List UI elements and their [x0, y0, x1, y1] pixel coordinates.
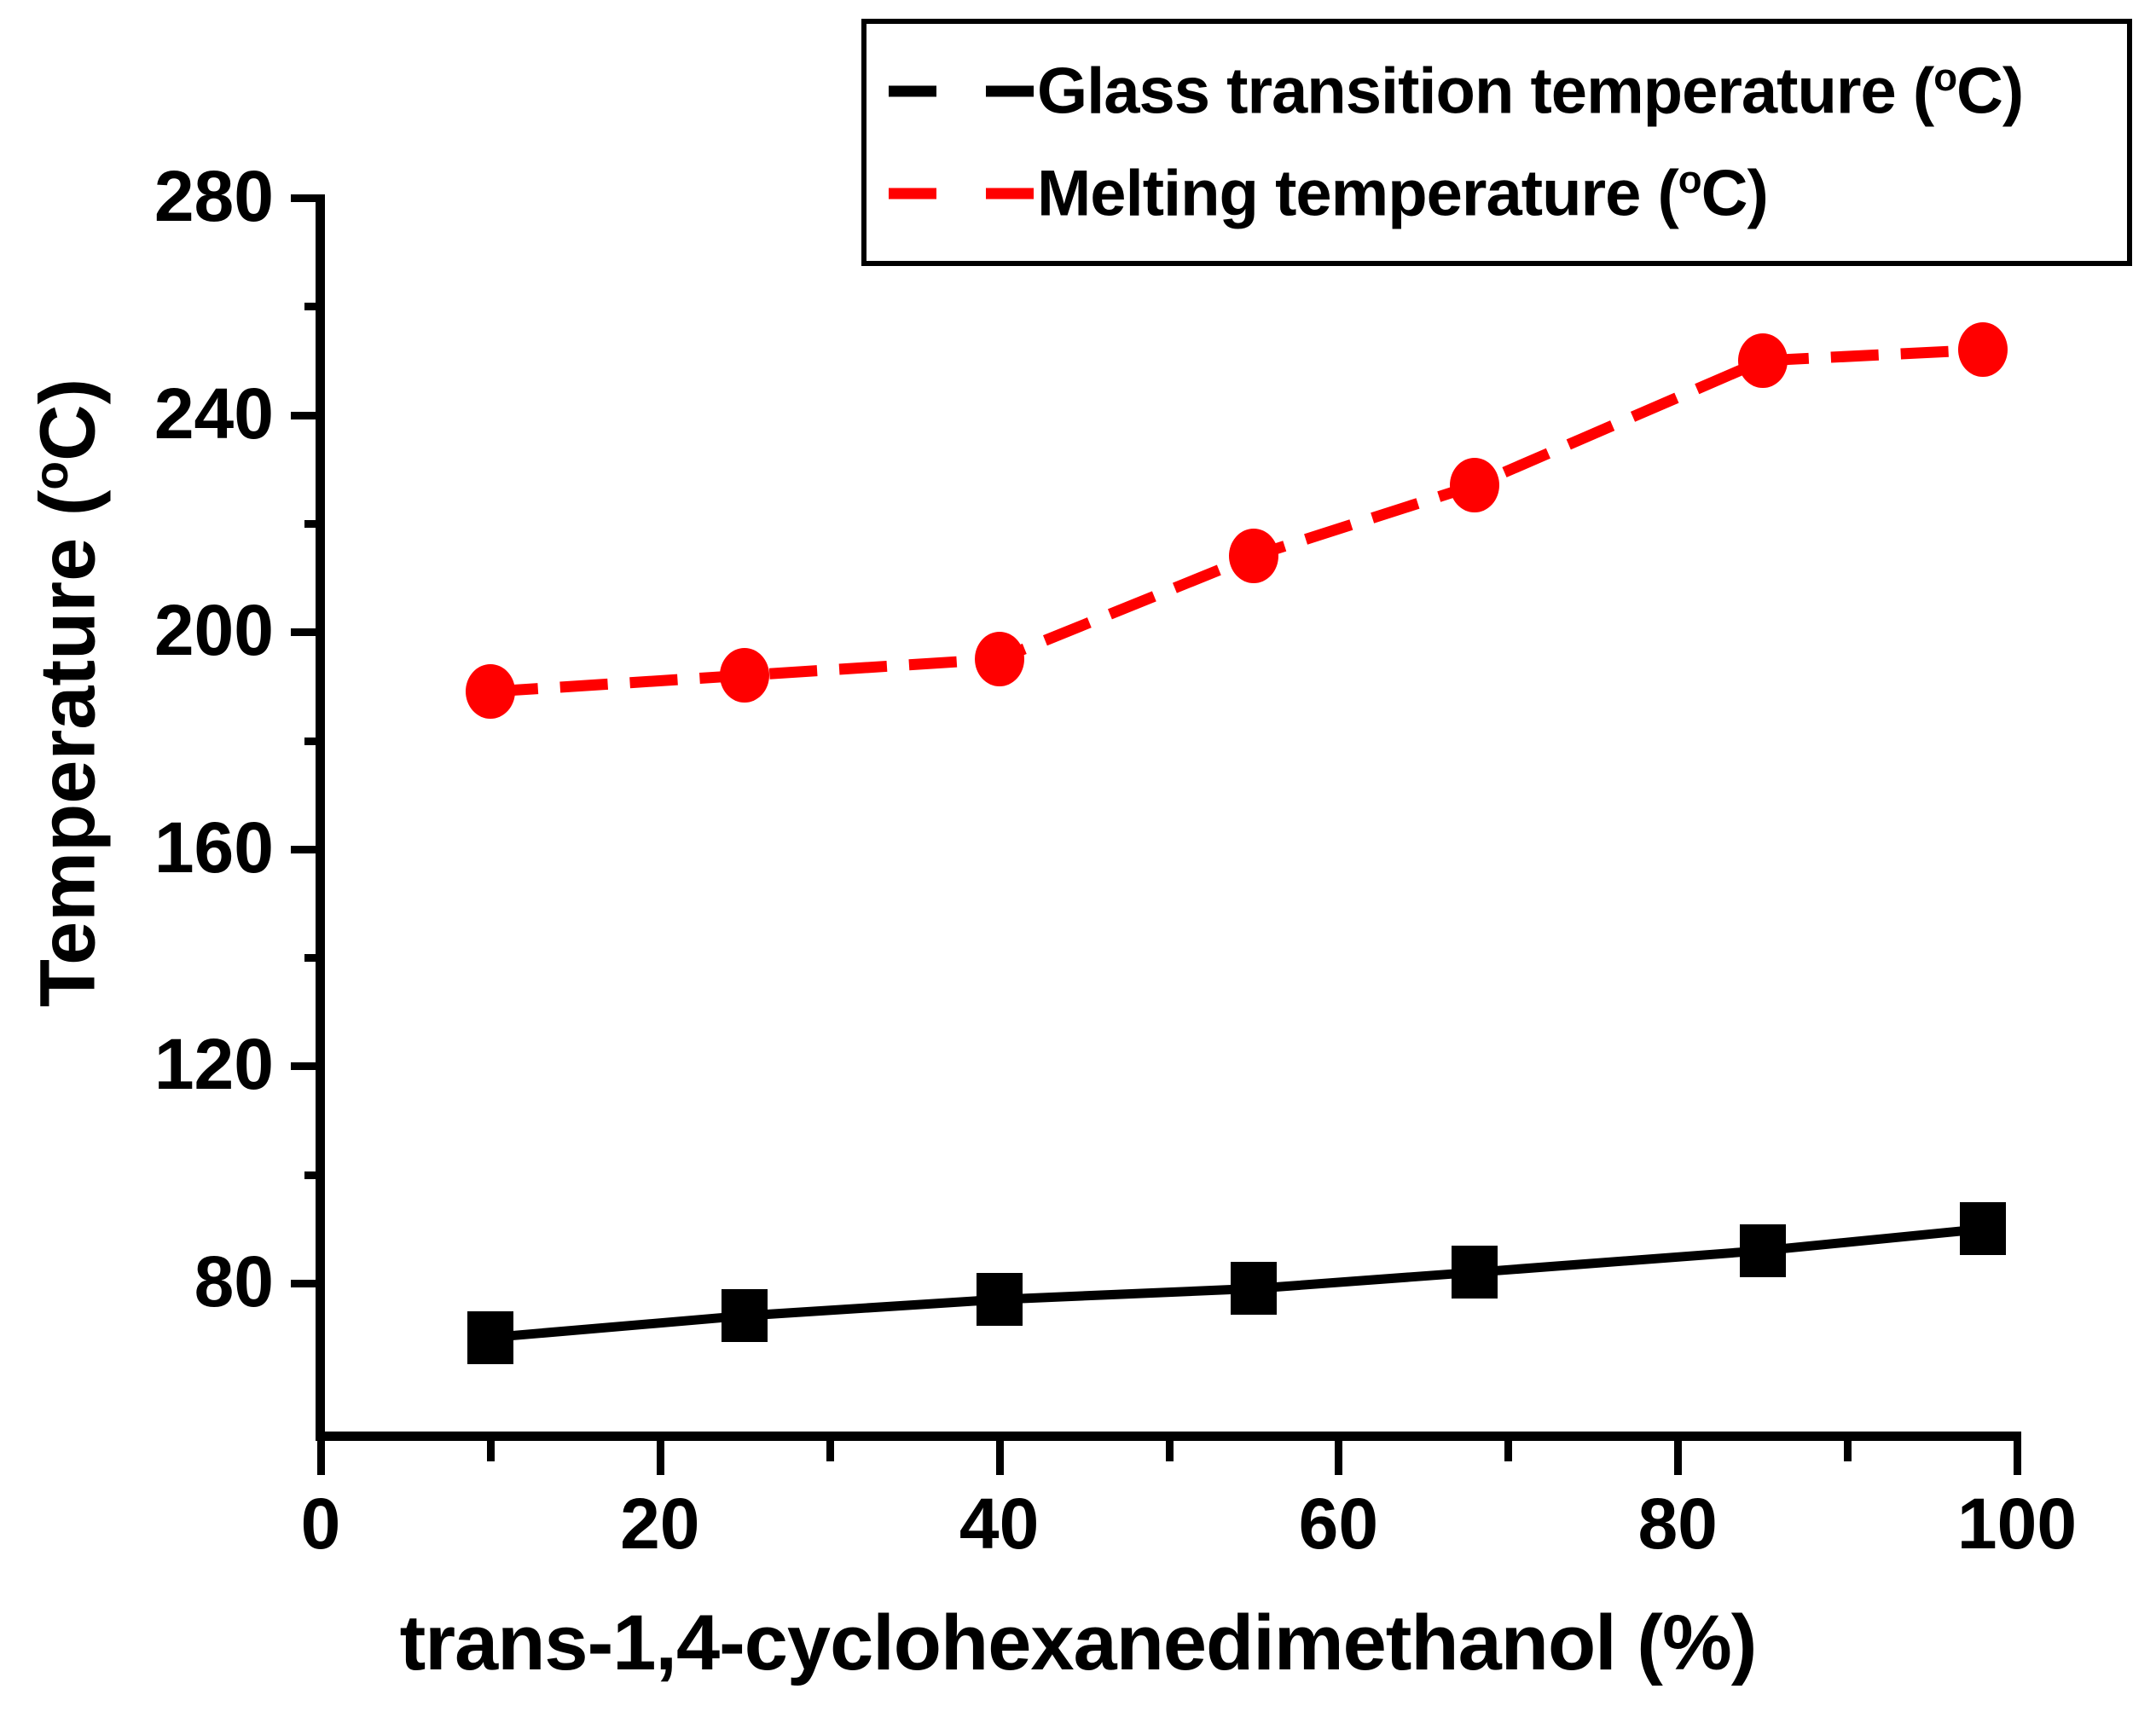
plot-area: 80120160200240280 020406080100 trans-1,4…	[0, 0, 2156, 1718]
data-point-glass-transition	[1960, 1202, 2006, 1255]
data-point-glass-transition	[722, 1289, 768, 1342]
y-tick-minor	[304, 738, 325, 745]
data-point-melting	[1450, 458, 1499, 512]
data-point-melting	[1958, 322, 2008, 377]
x-tick-major	[996, 1441, 1004, 1475]
y-tick-major	[291, 412, 325, 419]
x-tick-major	[1674, 1441, 1682, 1475]
x-tick-major	[317, 1441, 325, 1475]
y-tick-major	[291, 1062, 325, 1070]
x-axis-line	[316, 1432, 2021, 1441]
x-tick-major	[657, 1441, 664, 1475]
data-point-glass-transition	[467, 1311, 513, 1364]
y-tick-major	[291, 1280, 325, 1287]
y-tick-minor	[304, 303, 325, 310]
x-tick-label: 40	[872, 1488, 1127, 1559]
y-tick-label: 280	[0, 160, 274, 232]
chart-figure: Glass transition temperature (oC) Meltin…	[0, 0, 2156, 1718]
y-tick-minor	[304, 520, 325, 528]
y-tick-major	[291, 846, 325, 853]
x-tick-label: 100	[1889, 1488, 2145, 1559]
x-tick-label: 0	[193, 1488, 449, 1559]
data-point-glass-transition	[1231, 1262, 1277, 1315]
x-axis-title: trans-1,4-cyclohexanedimethanol (%)	[0, 1599, 2156, 1688]
x-tick-major	[2014, 1441, 2021, 1475]
x-tick-minor	[1166, 1441, 1174, 1461]
y-tick-minor	[304, 1171, 325, 1179]
x-tick-minor	[1504, 1441, 1512, 1461]
data-point-melting	[975, 632, 1024, 686]
data-point-melting	[1229, 529, 1278, 583]
x-tick-label: 80	[1550, 1488, 1805, 1559]
y-tick-label: 80	[0, 1246, 274, 1317]
y-tick-minor	[304, 954, 325, 962]
y-axis-line	[316, 194, 325, 1441]
x-tick-label: 20	[532, 1488, 788, 1559]
x-tick-minor	[1844, 1441, 1852, 1461]
x-tick-major	[1335, 1441, 1342, 1475]
y-tick-major	[291, 628, 325, 636]
x-tick-minor	[487, 1441, 495, 1461]
data-point-glass-transition	[1740, 1224, 1786, 1277]
y-axis-title: Temperature (oC)	[24, 267, 113, 1119]
data-point-melting	[1738, 333, 1788, 388]
x-tick-minor	[826, 1441, 834, 1461]
data-point-melting	[720, 648, 769, 703]
series-line-melting	[490, 350, 1983, 691]
data-point-glass-transition	[977, 1273, 1023, 1326]
data-point-melting	[466, 664, 515, 719]
x-tick-label: 60	[1210, 1488, 1466, 1559]
data-point-glass-transition	[1452, 1246, 1498, 1299]
y-tick-major	[291, 194, 325, 202]
